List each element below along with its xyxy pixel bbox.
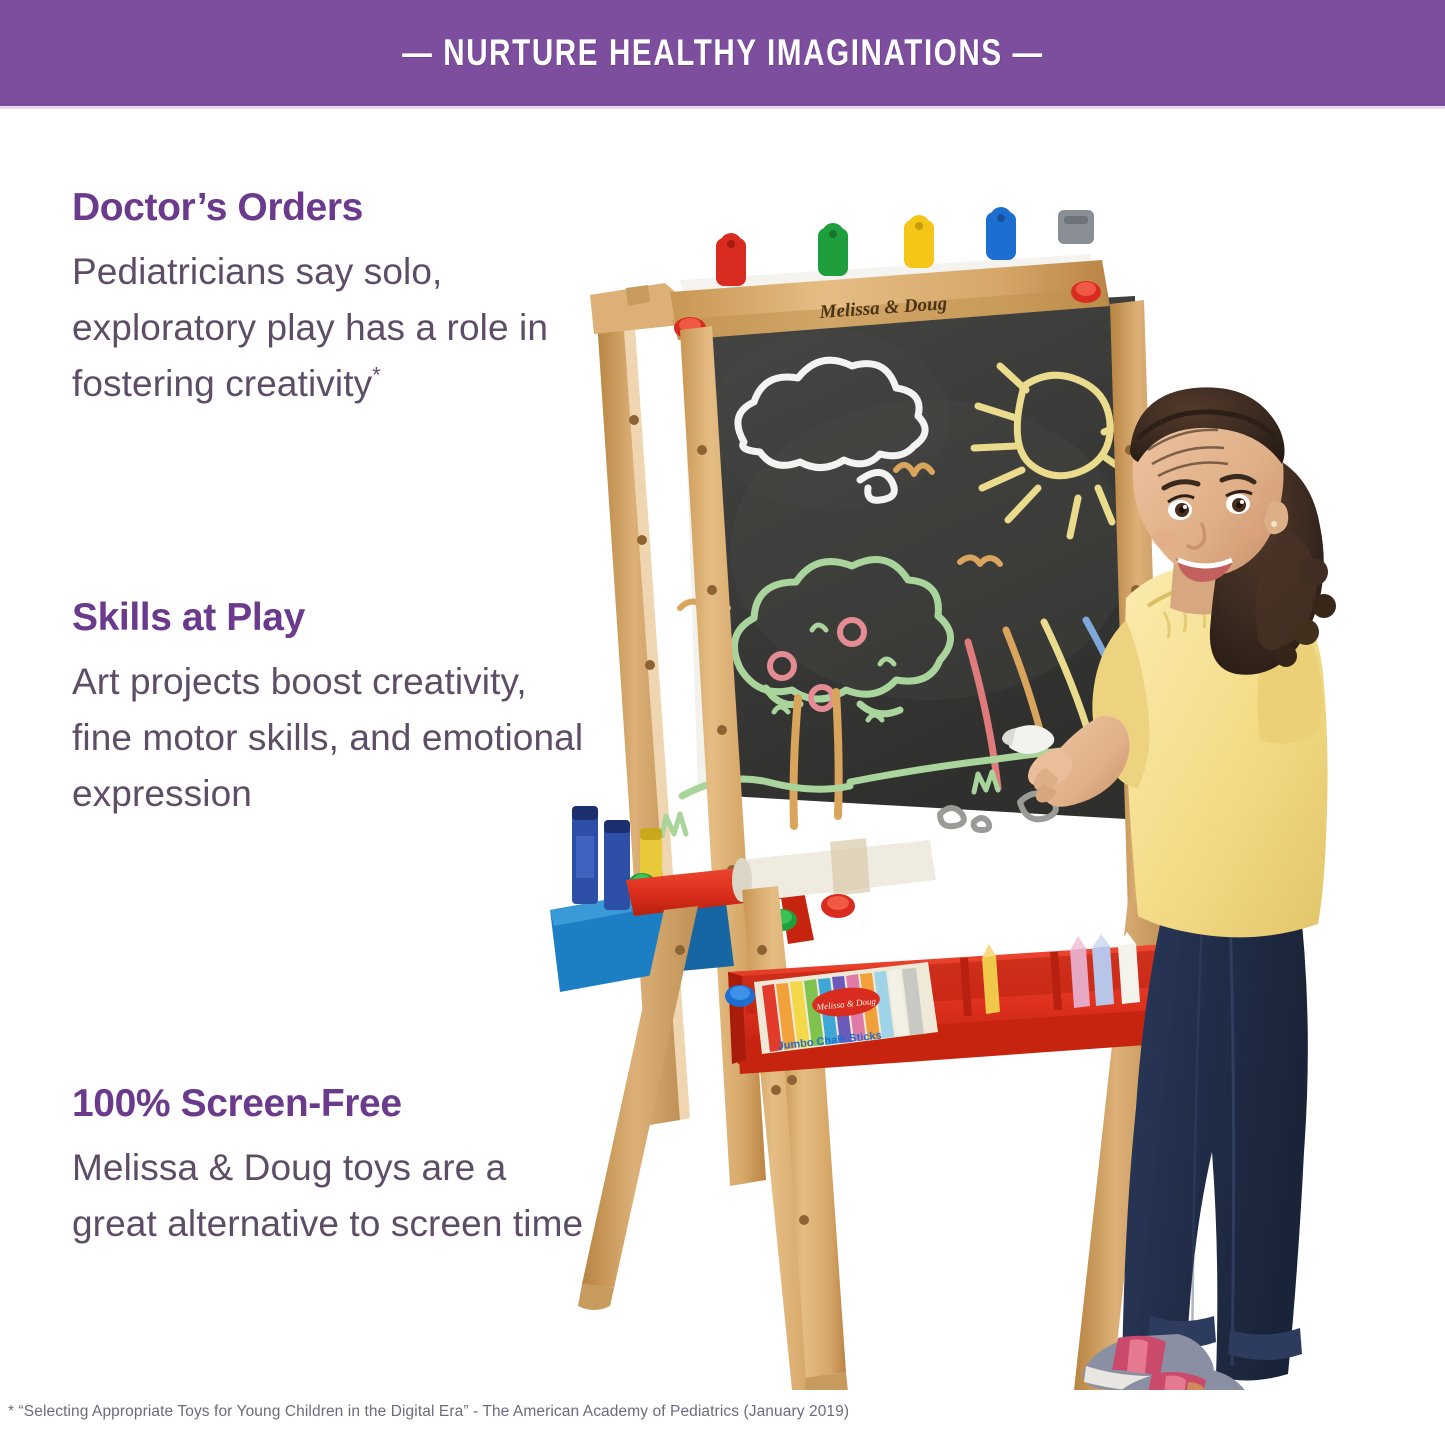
feature-block-screen-free: 100% Screen-Free Melissa & Doug toys are… <box>72 1082 592 1252</box>
board-knob-red[interactable] <box>821 894 855 918</box>
feature-block-skills-at-play: Skills at Play Art projects boost creati… <box>72 596 592 823</box>
paper-roll-holder <box>590 283 682 334</box>
product-photo: Melissa & Doug <box>530 120 1445 1390</box>
easel-illustration: Melissa & Doug <box>530 120 1445 1390</box>
footnote-marker: * <box>372 363 381 388</box>
clip-green[interactable] <box>818 223 848 276</box>
feature-body: Melissa & Doug toys are a great alternat… <box>72 1140 592 1252</box>
feature-heading: Skills at Play <box>72 596 592 640</box>
feature-body-text: Pediatricians say solo, exploratory play… <box>72 251 548 404</box>
header-banner: — NURTURE HEALTHY IMAGINATIONS — <box>0 0 1445 106</box>
banner-underline <box>0 106 1445 109</box>
clip-red[interactable] <box>716 233 746 286</box>
feature-body: Art projects boost creativity, fine moto… <box>72 654 592 823</box>
footnote-citation: * “Selecting Appropriate Toys for Young … <box>8 1403 849 1421</box>
clip-yellow[interactable] <box>904 215 934 268</box>
feature-block-doctors-orders: Doctor’s Orders Pediatricians say solo, … <box>72 186 592 413</box>
clip-blue[interactable] <box>986 207 1016 260</box>
clip-gray[interactable] <box>1058 210 1094 244</box>
banner-title: — NURTURE HEALTHY IMAGINATIONS — <box>402 32 1044 74</box>
feature-heading: Doctor’s Orders <box>72 186 592 230</box>
feature-body: Pediatricians say solo, exploratory play… <box>72 244 592 413</box>
feature-heading: 100% Screen-Free <box>72 1082 592 1126</box>
